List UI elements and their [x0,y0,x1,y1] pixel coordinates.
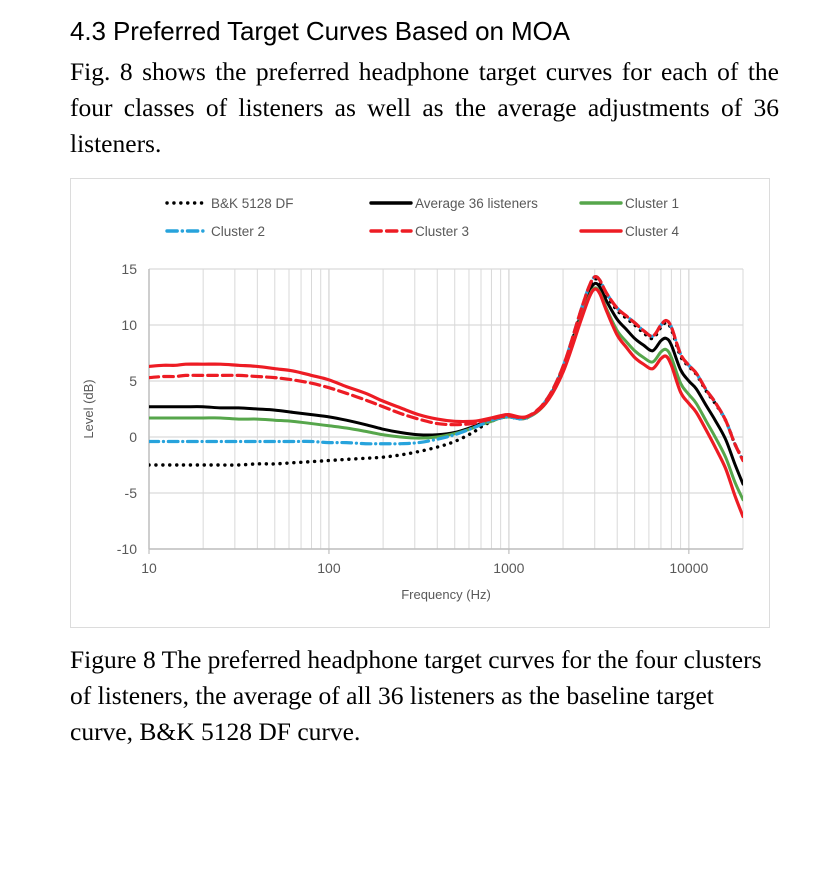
legend-label-cluster-1: Cluster 1 [625,196,679,211]
series-line-cluster-4 [149,289,743,516]
y-tick-label: 0 [129,429,137,445]
y-tick-label: 15 [121,261,137,277]
section-heading: 4.3 Preferred Target Curves Based on MOA [70,14,779,48]
x-tick-label: 10 [141,560,157,576]
y-tick-label: -5 [125,485,138,501]
chart-legend: B&K 5128 DFAverage 36 listenersCluster 1… [167,196,680,239]
x-tick-marks [149,549,689,554]
y-tick-label: 10 [121,317,137,333]
x-tick-label: 100 [317,560,341,576]
x-tick-label: 1000 [493,560,524,576]
y-tick-label: -10 [117,541,137,557]
y-tick-label: 5 [129,373,137,389]
series-line-average-36-listeners [149,283,743,484]
legend-label-b-k-5128-df: B&K 5128 DF [211,196,294,211]
y-axis-title: Level (dB) [81,379,96,438]
figure-caption-block: Figure 8 The preferred headphone target … [70,642,779,750]
target-curves-chart: 151050-5-1010100100010000Frequency (Hz)L… [71,179,769,627]
figure-8-chart-container: 151050-5-1010100100010000Frequency (Hz)L… [70,178,770,628]
legend-label-cluster-3: Cluster 3 [415,224,469,239]
legend-label-cluster-2: Cluster 2 [211,224,265,239]
legend-label-cluster-4: Cluster 4 [625,224,680,239]
legend-label-average-36-listeners: Average 36 listeners [415,196,538,211]
x-axis-title: Frequency (Hz) [401,587,491,602]
series-line-cluster-1 [149,288,743,500]
x-minor-gridlines [203,269,743,549]
series-group [149,277,743,517]
figure-caption: Figure 8 The preferred headphone target … [70,642,779,750]
document-page: 4.3 Preferred Target Curves Based on MOA… [0,0,839,871]
x-tick-label: 10000 [669,560,708,576]
intro-paragraph: Fig. 8 shows the preferred headphone tar… [70,54,779,162]
